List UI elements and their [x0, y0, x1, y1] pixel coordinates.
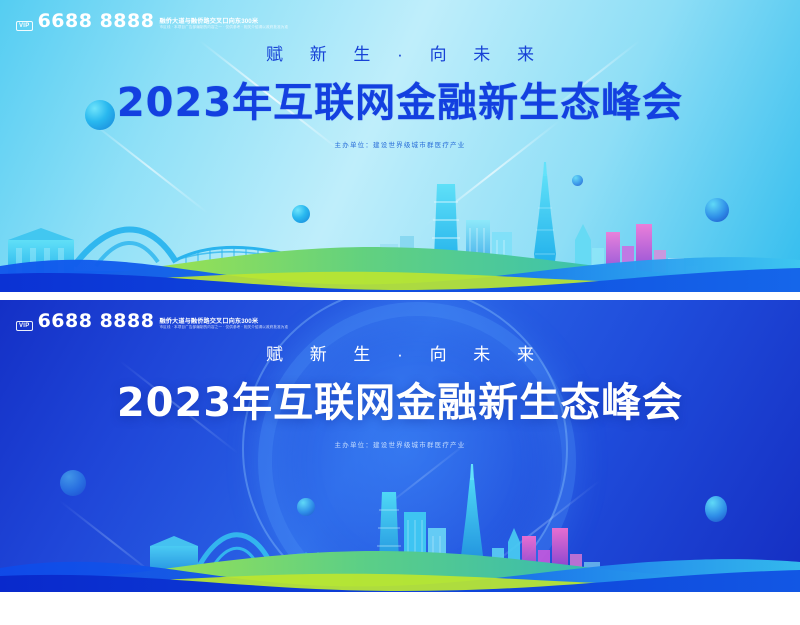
slogan: 赋 新 生 · 向 未 来 [0, 46, 800, 63]
phone-number: 6688 8888 [38, 312, 155, 331]
address-line-2: 市区线 · 本项目广告部编制的内容之一 · 仅供参考 · 相关介绍请以政府批准为… [159, 326, 288, 330]
slogan-separator-dot: · [397, 45, 414, 64]
slogan-right: 向 未 来 [430, 45, 545, 64]
slogan-right: 向 未 来 [430, 345, 545, 364]
headline-block: 赋 新 生 · 向 未 来 2023年互联网金融新生态峰会 主办单位：建设世界级… [0, 346, 800, 450]
vip-badge: VIP [16, 321, 33, 331]
cityscape-scene [0, 462, 800, 592]
organizer-line: 主办单位：建设世界级城市群医疗产业 [0, 143, 800, 150]
poster-dark: VIP 6688 8888 融侨大道与融侨路交叉口向东300米 市区线 · 本项… [0, 300, 800, 592]
address-block: 融侨大道与融侨路交叉口向东300米 市区线 · 本项目广告部编制的内容之一 · … [159, 319, 288, 331]
page-title: 2023年互联网金融新生态峰会 [0, 83, 800, 123]
organizer-line: 主办单位：建设世界级城市群医疗产业 [0, 443, 800, 450]
address-line-2: 市区线 · 本项目广告部编制的内容之一 · 仅供参考 · 相关介绍请以政府批准为… [159, 26, 288, 30]
cityscape-scene [0, 162, 800, 292]
headline-block: 赋 新 生 · 向 未 来 2023年互联网金融新生态峰会 主办单位：建设世界级… [0, 46, 800, 150]
vip-badge: VIP [16, 21, 33, 31]
slogan-left: 赋 新 生 [266, 45, 381, 64]
poster-light: VIP 6688 8888 融侨大道与融侨路交叉口向东300米 市区线 · 本项… [0, 0, 800, 292]
slogan-left: 赋 新 生 [266, 345, 381, 364]
phone-number: 6688 8888 [38, 12, 155, 31]
poster-divider [0, 292, 800, 300]
page-title: 2023年互联网金融新生态峰会 [0, 383, 800, 423]
slogan: 赋 新 生 · 向 未 来 [0, 346, 800, 363]
slogan-separator-dot: · [397, 345, 414, 364]
address-block: 融侨大道与融侨路交叉口向东300米 市区线 · 本项目广告部编制的内容之一 · … [159, 19, 288, 31]
contact-bar: VIP 6688 8888 融侨大道与融侨路交叉口向东300米 市区线 · 本项… [16, 12, 288, 31]
contact-bar: VIP 6688 8888 融侨大道与融侨路交叉口向东300米 市区线 · 本项… [16, 312, 288, 331]
